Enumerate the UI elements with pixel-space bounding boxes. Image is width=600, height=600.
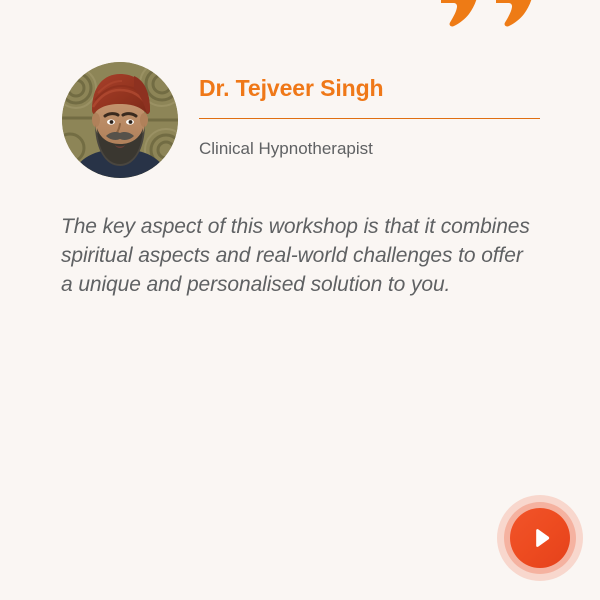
testimonial-card: Dr. Tejveer Singh Clinical Hypnotherapis… xyxy=(0,0,600,600)
person-name: Dr. Tejveer Singh xyxy=(199,62,540,103)
person-role: Clinical Hypnotherapist xyxy=(199,138,540,160)
testimonial-quote: The key aspect of this workshop is that … xyxy=(61,212,531,299)
play-button-core[interactable] xyxy=(510,508,570,568)
play-triangle-icon xyxy=(531,527,553,549)
profile-header: Dr. Tejveer Singh Clinical Hypnotherapis… xyxy=(62,62,540,180)
identity-block: Dr. Tejveer Singh Clinical Hypnotherapis… xyxy=(199,62,540,160)
double-closing-quote-icon xyxy=(441,0,541,40)
play-button[interactable] xyxy=(497,495,583,581)
name-divider xyxy=(199,118,540,119)
avatar xyxy=(62,62,178,178)
